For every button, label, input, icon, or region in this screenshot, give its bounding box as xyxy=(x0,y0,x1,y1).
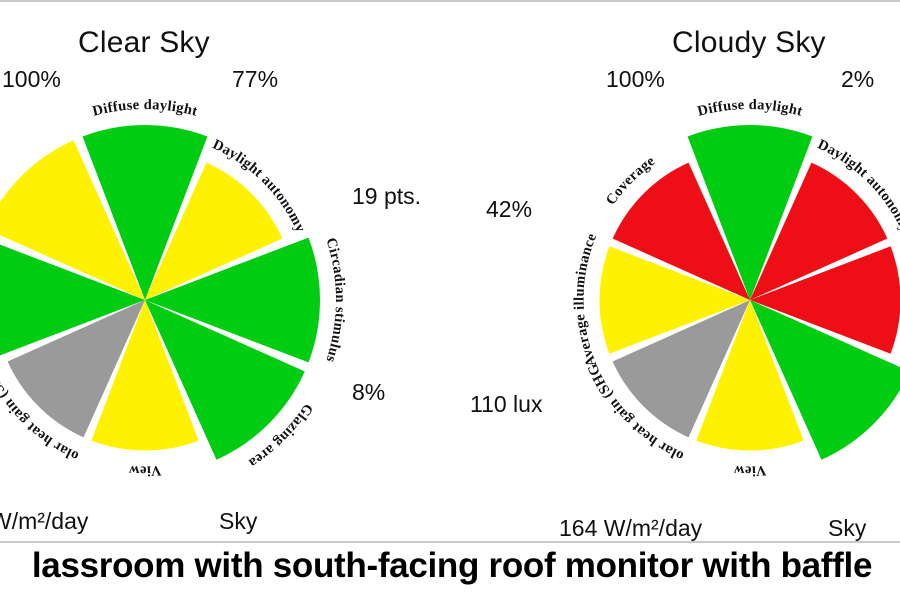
value-coverage: 42% xyxy=(486,196,532,223)
value-daylight-autonomy: 77% xyxy=(232,66,278,93)
figure-caption: lassroom with south-facing roof monitor … xyxy=(0,546,900,586)
spoke-view: View xyxy=(733,462,767,479)
figure-canvas: Clear Sky Diffuse daylightDaylight auton… xyxy=(0,0,900,600)
value-solar-heat-gain: 164 W/m²/day xyxy=(559,515,702,542)
value-view: Sky xyxy=(828,515,866,542)
bottom-divider xyxy=(0,541,900,543)
spoke-average-illuminance: Average illuminance xyxy=(571,231,600,369)
value-view: Sky xyxy=(219,508,257,535)
value-diffuse-daylight: 100% xyxy=(2,66,61,93)
value-average-illuminance: 110 lux xyxy=(470,391,542,418)
value-circadian-stimulus: 19 pts. xyxy=(352,183,421,210)
spoke-solar-heat-gain: Solar heat gain (SHG) xyxy=(0,0,686,464)
spoke-diffuse-daylight: Diffuse daylight xyxy=(696,97,804,120)
cloudy-sky-wheel: Diffuse daylightDaylight autonomyViewSol… xyxy=(0,0,900,600)
value-glazing-area: 8% xyxy=(352,379,385,406)
value-solar-heat-gain: W/m²/day xyxy=(0,508,88,535)
value-diffuse-daylight: 100% xyxy=(606,66,665,93)
value-daylight-autonomy: 2% xyxy=(841,66,874,93)
